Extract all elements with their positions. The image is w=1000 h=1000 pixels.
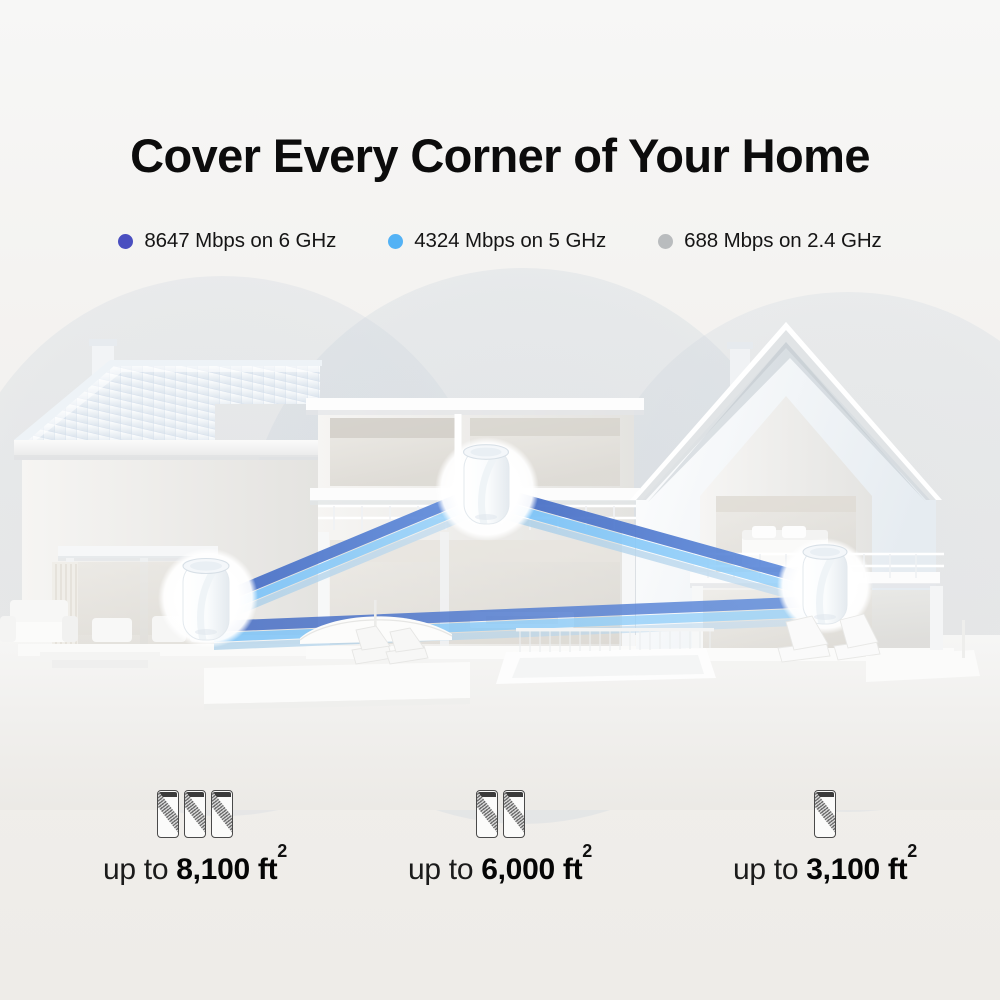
coverage-column-1-unit: up to 3,100 ft2 xyxy=(670,780,980,887)
unit-icon-group xyxy=(30,780,360,838)
promo-graphic: Cover Every Corner of Your Home 8647 Mbp… xyxy=(0,0,1000,1000)
legend-item-5ghz: 4324 Mbps on 5 GHz xyxy=(388,229,606,253)
house-render xyxy=(0,300,1000,720)
legend-label-5ghz: 4324 Mbps on 5 GHz xyxy=(414,229,606,253)
mesh-unit-icon xyxy=(503,790,525,838)
mesh-unit-icon xyxy=(476,790,498,838)
unit-icon-group xyxy=(345,780,655,838)
mesh-unit-left-group xyxy=(158,548,258,648)
legend-dot-icon xyxy=(658,234,673,249)
mesh-unit-icon xyxy=(184,790,206,838)
coverage-column-3-units: up to 8,100 ft2 xyxy=(30,780,360,887)
unit-icon-group xyxy=(670,780,980,838)
page-title: Cover Every Corner of Your Home xyxy=(0,128,1000,183)
coverage-label-1: up to 8,100 ft2 xyxy=(30,852,360,887)
legend-label-6ghz: 8647 Mbps on 6 GHz xyxy=(144,229,336,253)
mesh-unit-icon xyxy=(157,790,179,838)
mesh-unit-center-group xyxy=(435,437,539,541)
legend-item-24ghz: 688 Mbps on 2.4 GHz xyxy=(658,229,882,253)
band-legend: 8647 Mbps on 6 GHz 4324 Mbps on 5 GHz 68… xyxy=(0,229,1000,253)
legend-dot-icon xyxy=(118,234,133,249)
mesh-unit-icon xyxy=(211,790,233,838)
coverage-column-2-units: up to 6,000 ft2 xyxy=(345,780,655,887)
coverage-label-2: up to 6,000 ft2 xyxy=(345,852,655,887)
coverage-label-3: up to 3,100 ft2 xyxy=(670,852,980,887)
mesh-unit-icon xyxy=(814,790,836,838)
legend-label-24ghz: 688 Mbps on 2.4 GHz xyxy=(684,229,882,253)
legend-dot-icon xyxy=(388,234,403,249)
legend-item-6ghz: 8647 Mbps on 6 GHz xyxy=(118,229,336,253)
